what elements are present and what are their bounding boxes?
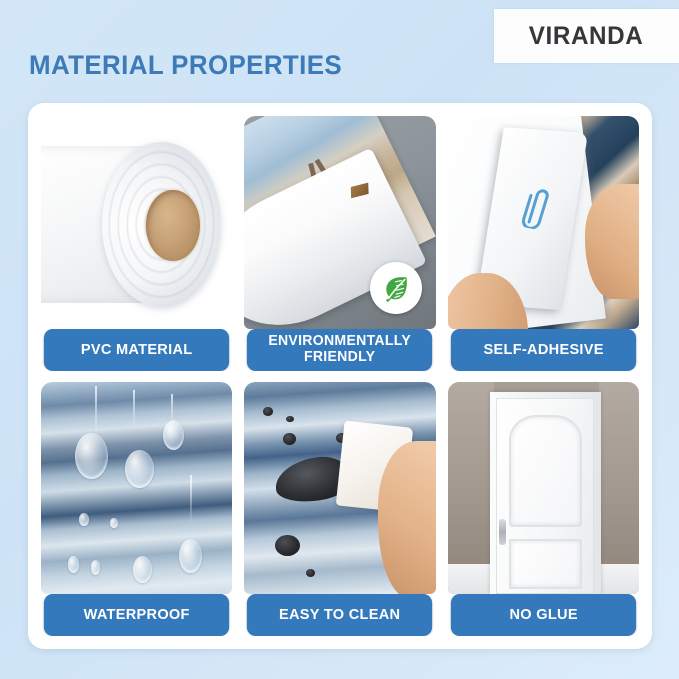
page-header: MATERIAL PROPERTIES VIRANDA: [0, 0, 679, 103]
feature-label-environmentally-friendly: ENVIRONMENTALLY FRIENDLY: [247, 329, 433, 371]
cleaning-cloth-icon: [244, 382, 435, 595]
page-title: MATERIAL PROPERTIES: [29, 50, 342, 81]
feature-panel-self-adhesive[interactable]: SELF-ADHESIVE: [448, 116, 639, 371]
brand-name: VIRANDA: [529, 22, 644, 51]
feature-label-self-adhesive: SELF-ADHESIVE: [451, 329, 637, 371]
feature-label-pvc-material: PVC MATERIAL: [44, 329, 230, 371]
feature-panel-waterproof[interactable]: WATERPROOF: [41, 382, 232, 637]
features-card: PVC MATERIAL ENVIRONMENTALLY FRIENDLY: [28, 103, 652, 649]
feature-panel-easy-to-clean[interactable]: EASY TO CLEAN: [244, 382, 435, 637]
feature-panel-pvc-material[interactable]: PVC MATERIAL: [41, 116, 232, 371]
feature-label-easy-to-clean: EASY TO CLEAN: [247, 594, 433, 636]
pvc-roll-icon: [41, 116, 232, 329]
feature-panel-no-glue[interactable]: NO GLUE: [448, 382, 639, 637]
self-adhesive-peel-image: [448, 116, 639, 329]
feature-panel-environmentally-friendly[interactable]: ENVIRONMENTALLY FRIENDLY: [244, 116, 435, 371]
water-drop-icon: [41, 382, 232, 595]
feature-label-no-glue: NO GLUE: [451, 594, 637, 636]
green-leaf-icon: [370, 262, 422, 314]
feature-label-waterproof: WATERPROOF: [44, 594, 230, 636]
brand-logo-badge: VIRANDA: [494, 9, 679, 63]
features-grid: PVC MATERIAL ENVIRONMENTALLY FRIENDLY: [41, 116, 639, 636]
door-icon: [448, 382, 639, 595]
eco-wallpaper-image: [244, 116, 435, 329]
paperclip-icon: [519, 181, 558, 231]
